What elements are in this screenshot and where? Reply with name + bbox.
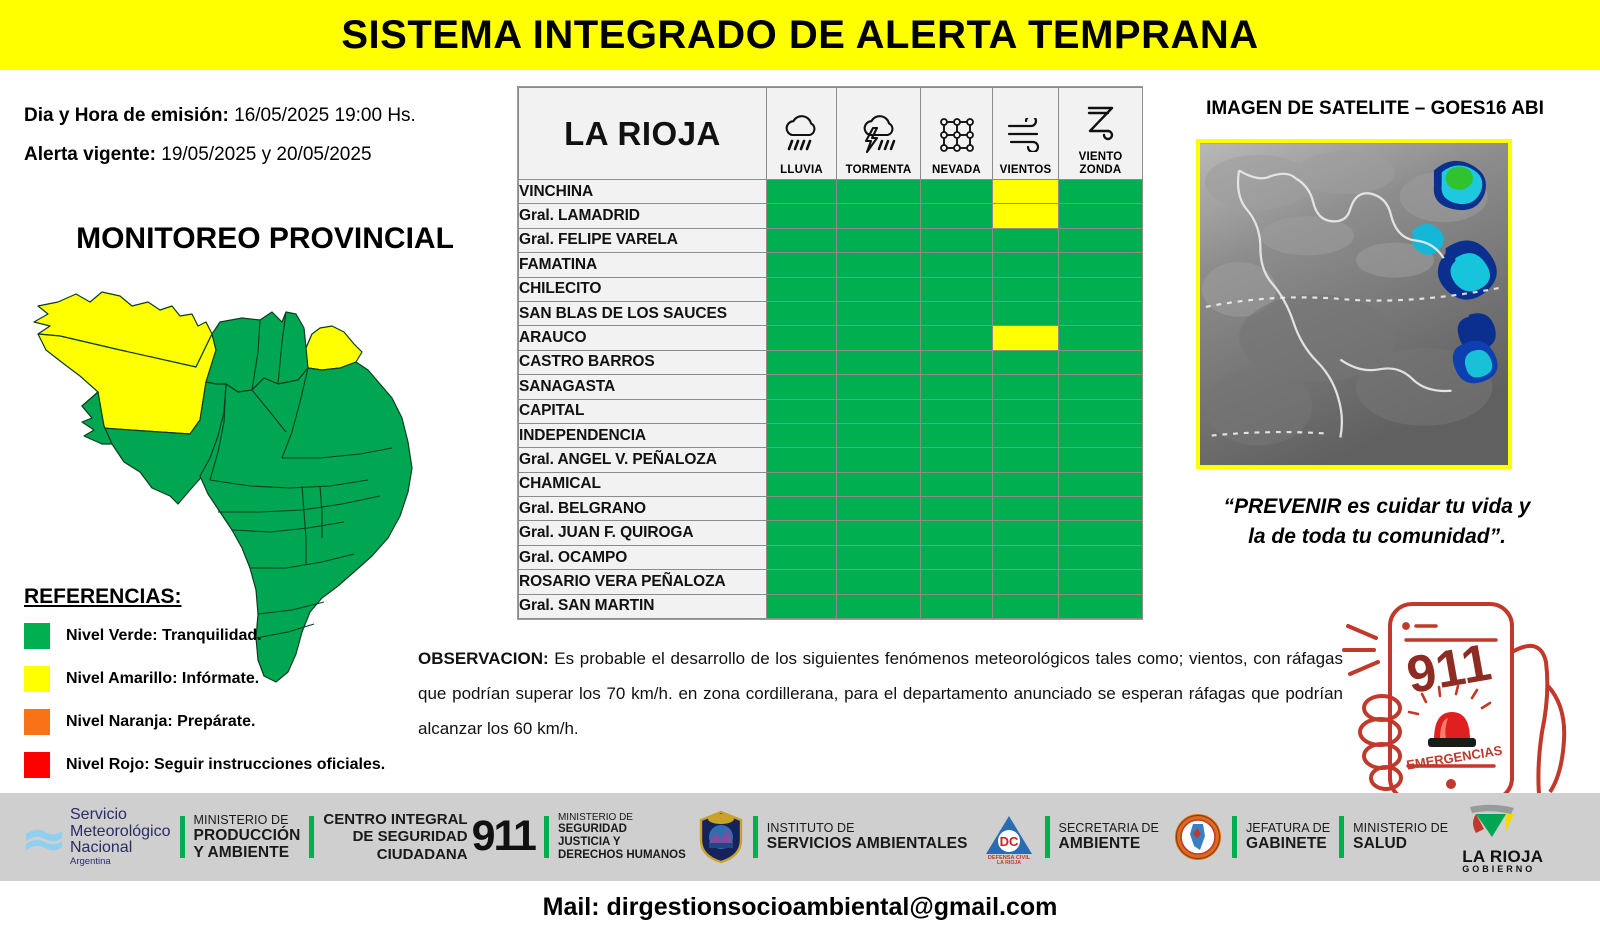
- column-label-vientos: VIENTOS: [993, 164, 1058, 179]
- table-row: Gral. BELGRANO: [519, 497, 1143, 521]
- alert-cell-tormenta: [837, 521, 921, 545]
- smn-line-4: Argentina: [70, 857, 171, 867]
- alert-cell-nevada: [921, 521, 993, 545]
- alert-cell-tormenta: [837, 326, 921, 350]
- issue-datetime-value: 16/05/2025 19:00 Hs.: [234, 105, 416, 126]
- column-header-tormenta: TORMENTA: [837, 88, 921, 180]
- page-title-bar: SISTEMA INTEGRADO DE ALERTA TEMPRANA: [0, 0, 1600, 70]
- department-name-cell: CAPITAL: [519, 399, 767, 423]
- produccion-bold-1: PRODUCCIÓN: [194, 827, 301, 844]
- references-title: REFERENCIAS:: [24, 585, 182, 609]
- reference-label-yellow: Nivel Amarillo: Infórmate.: [66, 670, 259, 688]
- column-header-nevada: NEVADA: [921, 88, 993, 180]
- alert-cell-viento-zonda: [1059, 545, 1143, 569]
- table-row: CHILECITO: [519, 277, 1143, 301]
- jefatura-seal-icon: [1173, 812, 1223, 862]
- alert-cell-nevada: [921, 326, 993, 350]
- alert-cell-vientos: [993, 277, 1059, 301]
- alert-cell-tormenta: [837, 399, 921, 423]
- issue-datetime-line: Dia y Hora de emisión: 16/05/2025 19:00 …: [24, 105, 514, 127]
- department-name-cell: VINCHINA: [519, 180, 767, 204]
- alert-cell-lluvia: [767, 277, 837, 301]
- alert-cell-lluvia: [767, 423, 837, 447]
- department-name-cell: Gral. BELGRANO: [519, 497, 767, 521]
- alert-cell-viento-zonda: [1059, 472, 1143, 496]
- alert-cell-vientos: [993, 253, 1059, 277]
- references-legend: REFERENCIAS: Nivel Verde: Tranquilidad. …: [24, 585, 424, 795]
- alert-table-container: LA RIOJA LLUVIA: [517, 86, 1143, 620]
- reference-swatch-yellow: [24, 666, 50, 692]
- logo-jefatura-gabinete: JEFATURA DE GABINETE: [1246, 821, 1330, 852]
- table-row: Gral. LAMADRID: [519, 204, 1143, 228]
- alert-cell-viento-zonda: [1059, 277, 1143, 301]
- department-name-cell: CASTRO BARROS: [519, 350, 767, 374]
- province-name: LA RIOJA: [519, 88, 767, 180]
- emission-info: Dia y Hora de emisión: 16/05/2025 19:00 …: [24, 105, 514, 183]
- department-name-cell: SAN BLAS DE LOS SAUCES: [519, 301, 767, 325]
- alert-cell-vientos: [993, 180, 1059, 204]
- department-name-cell: Gral. JUAN F. QUIROGA: [519, 521, 767, 545]
- observation-block: OBSERVACION: Es probable el desarrollo d…: [418, 642, 1343, 747]
- alert-cell-nevada: [921, 472, 993, 496]
- alert-cell-viento-zonda: [1059, 497, 1143, 521]
- reference-item-verde: Nivel Verde: Tranquilidad.: [24, 623, 424, 649]
- alert-cell-lluvia: [767, 399, 837, 423]
- alert-cell-tormenta: [837, 423, 921, 447]
- alert-cell-lluvia: [767, 301, 837, 325]
- alert-cell-viento-zonda: [1059, 448, 1143, 472]
- table-row: VINCHINA: [519, 180, 1143, 204]
- alert-cell-nevada: [921, 545, 993, 569]
- jefatura-bold: GABINETE: [1246, 835, 1330, 852]
- thunderstorm-icon: [837, 106, 920, 164]
- alert-cell-tormenta: [837, 253, 921, 277]
- alert-cell-nevada: [921, 253, 993, 277]
- alert-cell-tormenta: [837, 277, 921, 301]
- alert-cell-vientos: [993, 228, 1059, 252]
- satellite-title: IMAGEN DE SATELITE – GOES16 ABI: [1150, 98, 1600, 120]
- table-header-row: LA RIOJA LLUVIA: [519, 88, 1143, 180]
- alert-cell-nevada: [921, 204, 993, 228]
- alert-cell-vientos: [993, 545, 1059, 569]
- valid-alert-value: 19/05/2025 y 20/05/2025: [161, 144, 371, 165]
- alert-cell-vientos: [993, 326, 1059, 350]
- alert-cell-viento-zonda: [1059, 350, 1143, 374]
- column-label-tormenta: TORMENTA: [837, 164, 920, 179]
- footer-logo-bar: Servicio Meteorológico Nacional Argentin…: [0, 793, 1600, 881]
- alert-cell-tormenta: [837, 545, 921, 569]
- alert-cell-viento-zonda: [1059, 423, 1143, 447]
- alert-cell-viento-zonda: [1059, 326, 1143, 350]
- alert-cell-viento-zonda: [1059, 204, 1143, 228]
- centro-911-number: 911: [472, 812, 535, 861]
- column-label-nevada: NEVADA: [921, 164, 992, 179]
- alert-cell-nevada: [921, 497, 993, 521]
- alert-cell-viento-zonda: [1059, 301, 1143, 325]
- department-name-cell: ROSARIO VERA PEÑALOZA: [519, 570, 767, 594]
- satellite-image: [1196, 139, 1512, 469]
- alert-cell-viento-zonda: [1059, 594, 1143, 618]
- reference-label-red: Nivel Rojo: Seguir instrucciones oficial…: [66, 756, 385, 774]
- table-row: Gral. JUAN F. QUIROGA: [519, 521, 1143, 545]
- alert-cell-vientos: [993, 472, 1059, 496]
- alert-cell-nevada: [921, 448, 993, 472]
- column-header-lluvia: LLUVIA: [767, 88, 837, 180]
- smn-line-3: Nacional: [70, 840, 171, 857]
- seguridad-bold-2: JUSTICIA Y: [558, 836, 686, 849]
- quote-line-1: “PREVENIR es cuidar tu vida y: [1162, 492, 1592, 522]
- alert-cell-nevada: [921, 228, 993, 252]
- department-name-cell: Gral. SAN MARTIN: [519, 594, 767, 618]
- department-name-cell: FAMATINA: [519, 253, 767, 277]
- mail-bar: Mail: dirgestionsocioambiental@gmail.com: [0, 881, 1600, 933]
- logo-ministerio-salud: MINISTERIO DE SALUD: [1353, 821, 1448, 852]
- table-row: SANAGASTA: [519, 375, 1143, 399]
- alert-cell-nevada: [921, 180, 993, 204]
- jefatura-thin: JEFATURA DE: [1246, 821, 1330, 835]
- alert-cell-lluvia: [767, 448, 837, 472]
- alert-cell-vientos: [993, 204, 1059, 228]
- centro-line-3: CIUDADANA: [323, 846, 467, 863]
- alert-cell-nevada: [921, 570, 993, 594]
- quote-line-2: la de toda tu comunidad”.: [1162, 522, 1592, 552]
- reference-item-rojo: Nivel Rojo: Seguir instrucciones oficial…: [24, 752, 424, 778]
- department-name-cell: ARAUCO: [519, 326, 767, 350]
- secretaria-bold: AMBIENTE: [1059, 835, 1159, 852]
- column-label-lluvia: LLUVIA: [767, 164, 836, 179]
- la-rioja-text: LA RIOJA GOBIERNO: [1462, 848, 1543, 874]
- alert-cell-vientos: [993, 521, 1059, 545]
- logo-secretaria-ambiente: SECRETARIA DE AMBIENTE: [1059, 821, 1159, 852]
- divider-4: [753, 816, 758, 858]
- logo-la-rioja-gobierno: LA RIOJA GOBIERNO: [1462, 801, 1543, 874]
- alert-cell-lluvia: [767, 570, 837, 594]
- alert-cell-nevada: [921, 423, 993, 447]
- observation-text: Es probable el desarrollo de los siguien…: [418, 649, 1343, 738]
- defensa-civil-sub: LA RIOJA: [997, 860, 1021, 864]
- alert-cell-lluvia: [767, 204, 837, 228]
- alert-cell-vientos: [993, 399, 1059, 423]
- divider-3: [544, 816, 549, 858]
- produccion-bold-2: Y AMBIENTE: [194, 844, 301, 861]
- table-row: Gral. OCAMPO: [519, 545, 1143, 569]
- instituto-bold: SERVICIOS AMBIENTALES: [767, 835, 968, 852]
- reference-item-amarillo: Nivel Amarillo: Infórmate.: [24, 666, 424, 692]
- reference-label-orange: Nivel Naranja: Prepárate.: [66, 713, 255, 731]
- alert-cell-lluvia: [767, 180, 837, 204]
- defensa-civil-icon: DC DEFENSA CIVIL LA RIOJA: [982, 810, 1036, 864]
- alert-cell-vientos: [993, 301, 1059, 325]
- table-row: INDEPENDENCIA: [519, 423, 1143, 447]
- department-name-cell: Gral. OCAMPO: [519, 545, 767, 569]
- alert-table: LA RIOJA LLUVIA: [518, 87, 1143, 619]
- alert-cell-nevada: [921, 594, 993, 618]
- valid-alert-label: Alerta vigente:: [24, 144, 156, 165]
- logo-defensa-civil: DC DEFENSA CIVIL LA RIOJA: [982, 793, 1036, 881]
- alert-cell-lluvia: [767, 497, 837, 521]
- alert-cell-nevada: [921, 301, 993, 325]
- table-row: SAN BLAS DE LOS SAUCES: [519, 301, 1143, 325]
- department-name-cell: Gral. FELIPE VARELA: [519, 228, 767, 252]
- alert-cell-nevada: [921, 375, 993, 399]
- alert-table-body: VINCHINAGral. LAMADRIDGral. FELIPE VAREL…: [519, 180, 1143, 619]
- seguridad-thin: MINISTERIO DE: [558, 812, 686, 823]
- produccion-thin: MINISTERIO DE: [194, 813, 301, 827]
- emergency-label-text: EMERGENCIAS: [1405, 743, 1503, 773]
- table-row: ARAUCO: [519, 326, 1143, 350]
- la-rioja-line-2: GOBIERNO: [1462, 865, 1543, 874]
- alert-cell-tormenta: [837, 472, 921, 496]
- logo-jefatura-seal: [1173, 793, 1223, 881]
- emergency-911-graphic: 911 EMERGENCIAS: [1330, 590, 1580, 805]
- alert-cell-vientos: [993, 594, 1059, 618]
- table-row: Gral. SAN MARTIN: [519, 594, 1143, 618]
- column-label-viento-zonda: VIENTO ZONDA: [1059, 151, 1142, 179]
- table-row: ROSARIO VERA PEÑALOZA: [519, 570, 1143, 594]
- divider-5: [1045, 816, 1050, 858]
- alert-cell-tormenta: [837, 204, 921, 228]
- smn-line-1: Servicio: [70, 807, 171, 824]
- page-title: SISTEMA INTEGRADO DE ALERTA TEMPRANA: [341, 13, 1258, 58]
- alert-cell-nevada: [921, 350, 993, 374]
- seguridad-bold-1: SEGURIDAD: [558, 823, 686, 836]
- alert-cell-lluvia: [767, 326, 837, 350]
- alert-cell-vientos: [993, 375, 1059, 399]
- alert-cell-lluvia: [767, 253, 837, 277]
- alert-cell-tormenta: [837, 570, 921, 594]
- alert-cell-lluvia: [767, 375, 837, 399]
- alert-cell-viento-zonda: [1059, 399, 1143, 423]
- department-name-cell: Gral. ANGEL V. PEÑALOZA: [519, 448, 767, 472]
- alert-cell-lluvia: [767, 521, 837, 545]
- dc-initials: DC: [999, 834, 1018, 849]
- alert-cell-vientos: [993, 497, 1059, 521]
- table-row: CHAMICAL: [519, 472, 1143, 496]
- logo-ministerio-seguridad-justicia: MINISTERIO DE SEGURIDAD JUSTICIA Y DEREC…: [558, 812, 686, 862]
- column-header-viento-zonda: VIENTO ZONDA: [1059, 88, 1143, 180]
- salud-thin: MINISTERIO DE: [1353, 821, 1448, 835]
- monitoring-title: MONITOREO PROVINCIAL: [40, 222, 490, 256]
- logo-instituto-servicios-ambientales: INSTITUTO DE SERVICIOS AMBIENTALES: [767, 821, 968, 852]
- divider-6: [1232, 816, 1237, 858]
- prevention-quote: “PREVENIR es cuidar tu vida y la de toda…: [1162, 492, 1592, 553]
- alert-cell-lluvia: [767, 228, 837, 252]
- alert-cell-tormenta: [837, 180, 921, 204]
- instituto-thin: INSTITUTO DE: [767, 821, 968, 835]
- department-name-cell: CHILECITO: [519, 277, 767, 301]
- valid-alert-line: Alerta vigente: 19/05/2025 y 20/05/2025: [24, 144, 514, 166]
- alert-cell-vientos: [993, 423, 1059, 447]
- alert-cell-viento-zonda: [1059, 375, 1143, 399]
- reference-swatch-green: [24, 623, 50, 649]
- alert-cell-vientos: [993, 570, 1059, 594]
- alert-cell-tormenta: [837, 375, 921, 399]
- table-row: CASTRO BARROS: [519, 350, 1143, 374]
- logo-policia-la-rioja: [698, 793, 744, 881]
- smn-logo-text: Servicio Meteorológico Nacional Argentin…: [70, 807, 171, 867]
- alert-cell-nevada: [921, 277, 993, 301]
- alert-cell-viento-zonda: [1059, 521, 1143, 545]
- centro-line-2: DE SEGURIDAD: [323, 828, 467, 845]
- snow-icon: [921, 106, 992, 164]
- alert-cell-tormenta: [837, 350, 921, 374]
- alert-cell-vientos: [993, 350, 1059, 374]
- smn-line-2: Meteorológico: [70, 824, 171, 841]
- alert-cell-lluvia: [767, 594, 837, 618]
- seguridad-bold-3: DERECHOS HUMANOS: [558, 849, 686, 862]
- divider-1: [180, 816, 185, 858]
- reference-label-green: Nivel Verde: Tranquilidad.: [66, 627, 262, 645]
- table-row: FAMATINA: [519, 253, 1143, 277]
- alert-cell-tormenta: [837, 497, 921, 521]
- centro-line-1: CENTRO INTEGRAL: [323, 811, 467, 828]
- emergency-number-text: 911: [1403, 633, 1496, 705]
- reference-swatch-orange: [24, 709, 50, 735]
- alert-cell-tormenta: [837, 594, 921, 618]
- smn-logo-icon: [14, 812, 70, 862]
- reference-swatch-red: [24, 752, 50, 778]
- table-row: Gral. FELIPE VARELA: [519, 228, 1143, 252]
- alert-cell-vientos: [993, 448, 1059, 472]
- department-name-cell: CHAMICAL: [519, 472, 767, 496]
- rain-icon: [767, 106, 836, 164]
- police-shield-icon: [698, 810, 744, 864]
- alert-poster: SISTEMA INTEGRADO DE ALERTA TEMPRANA Dia…: [0, 0, 1600, 933]
- salud-bold: SALUD: [1353, 835, 1448, 852]
- alert-cell-viento-zonda: [1059, 253, 1143, 277]
- issue-datetime-label: Dia y Hora de emisión:: [24, 105, 229, 126]
- wind-icon: [993, 106, 1058, 164]
- alert-cell-tormenta: [837, 301, 921, 325]
- alert-cell-lluvia: [767, 545, 837, 569]
- alert-cell-lluvia: [767, 350, 837, 374]
- alert-cell-viento-zonda: [1059, 228, 1143, 252]
- centro-integral-words: CENTRO INTEGRAL DE SEGURIDAD CIUDADANA: [323, 811, 467, 863]
- column-header-vientos: VIENTOS: [993, 88, 1059, 180]
- divider-7: [1339, 816, 1344, 858]
- logo-centro-integral-seguridad: CENTRO INTEGRAL DE SEGURIDAD CIUDADANA 9…: [323, 811, 535, 863]
- table-row: CAPITAL: [519, 399, 1143, 423]
- alert-cell-nevada: [921, 399, 993, 423]
- alert-cell-viento-zonda: [1059, 180, 1143, 204]
- alert-cell-tormenta: [837, 448, 921, 472]
- secretaria-thin: SECRETARIA DE: [1059, 821, 1159, 835]
- department-name-cell: Gral. LAMADRID: [519, 204, 767, 228]
- logo-ministerio-produccion-ambiente: MINISTERIO DE PRODUCCIÓN Y AMBIENTE: [194, 813, 301, 862]
- alert-cell-viento-zonda: [1059, 570, 1143, 594]
- department-name-cell: INDEPENDENCIA: [519, 423, 767, 447]
- divider-2: [309, 816, 314, 858]
- la-rioja-line-1: LA RIOJA: [1462, 848, 1543, 865]
- alert-cell-tormenta: [837, 228, 921, 252]
- table-row: Gral. ANGEL V. PEÑALOZA: [519, 448, 1143, 472]
- la-rioja-mark-icon: [1462, 801, 1522, 841]
- logo-servicio-meteorologico-nacional: Servicio Meteorológico Nacional Argentin…: [14, 793, 171, 881]
- contact-mail[interactable]: Mail: dirgestionsocioambiental@gmail.com: [543, 893, 1058, 922]
- observation-label: OBSERVACION:: [418, 649, 549, 668]
- zonda-icon: [1059, 93, 1142, 151]
- alert-cell-lluvia: [767, 472, 837, 496]
- reference-item-naranja: Nivel Naranja: Prepárate.: [24, 709, 424, 735]
- department-name-cell: SANAGASTA: [519, 375, 767, 399]
